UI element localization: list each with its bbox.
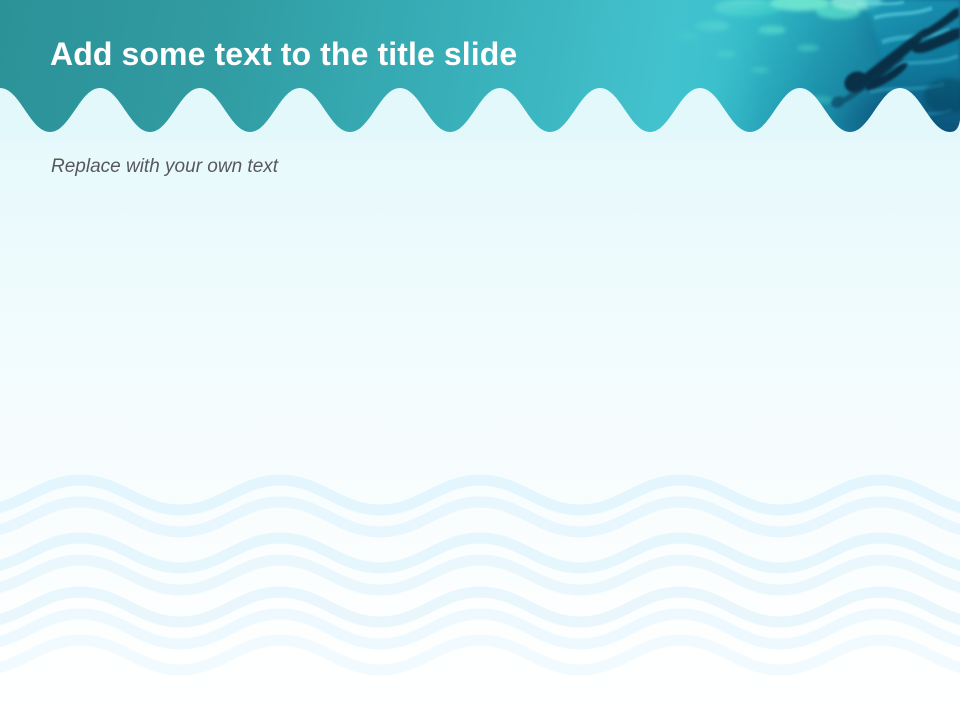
subtitle-placeholder: Replace with your own text [51, 156, 278, 178]
page-title: Add some text to the title slide [50, 36, 517, 73]
title-slide: Add some text to the title slide Replace… [0, 0, 960, 720]
diver-illustration [660, 0, 960, 140]
bottom-wave-pattern [0, 470, 960, 700]
underwater-diver-photo [660, 0, 960, 140]
header-band: Add some text to the title slide [0, 0, 960, 140]
